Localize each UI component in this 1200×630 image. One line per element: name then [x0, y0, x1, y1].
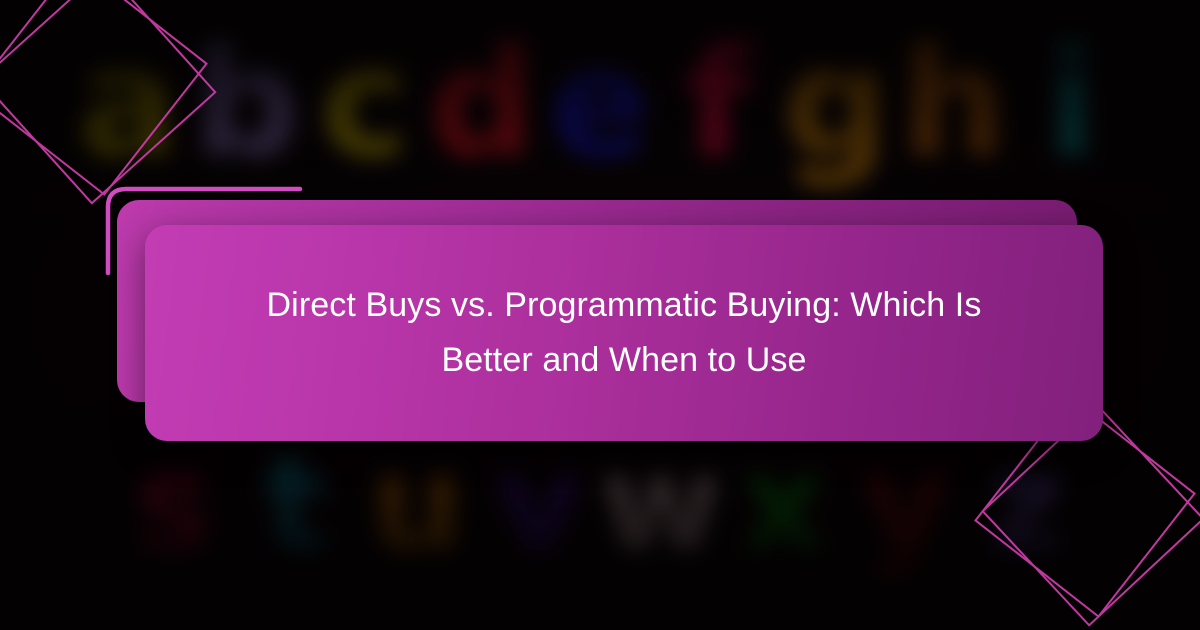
card-front-layer: Direct Buys vs. Programmatic Buying: Whi… — [145, 225, 1103, 441]
title-card-canvas: abcdefghi stuvwxyz Direct Buys vs. Progr… — [0, 0, 1200, 630]
page-title: Direct Buys vs. Programmatic Buying: Whi… — [209, 278, 1039, 388]
